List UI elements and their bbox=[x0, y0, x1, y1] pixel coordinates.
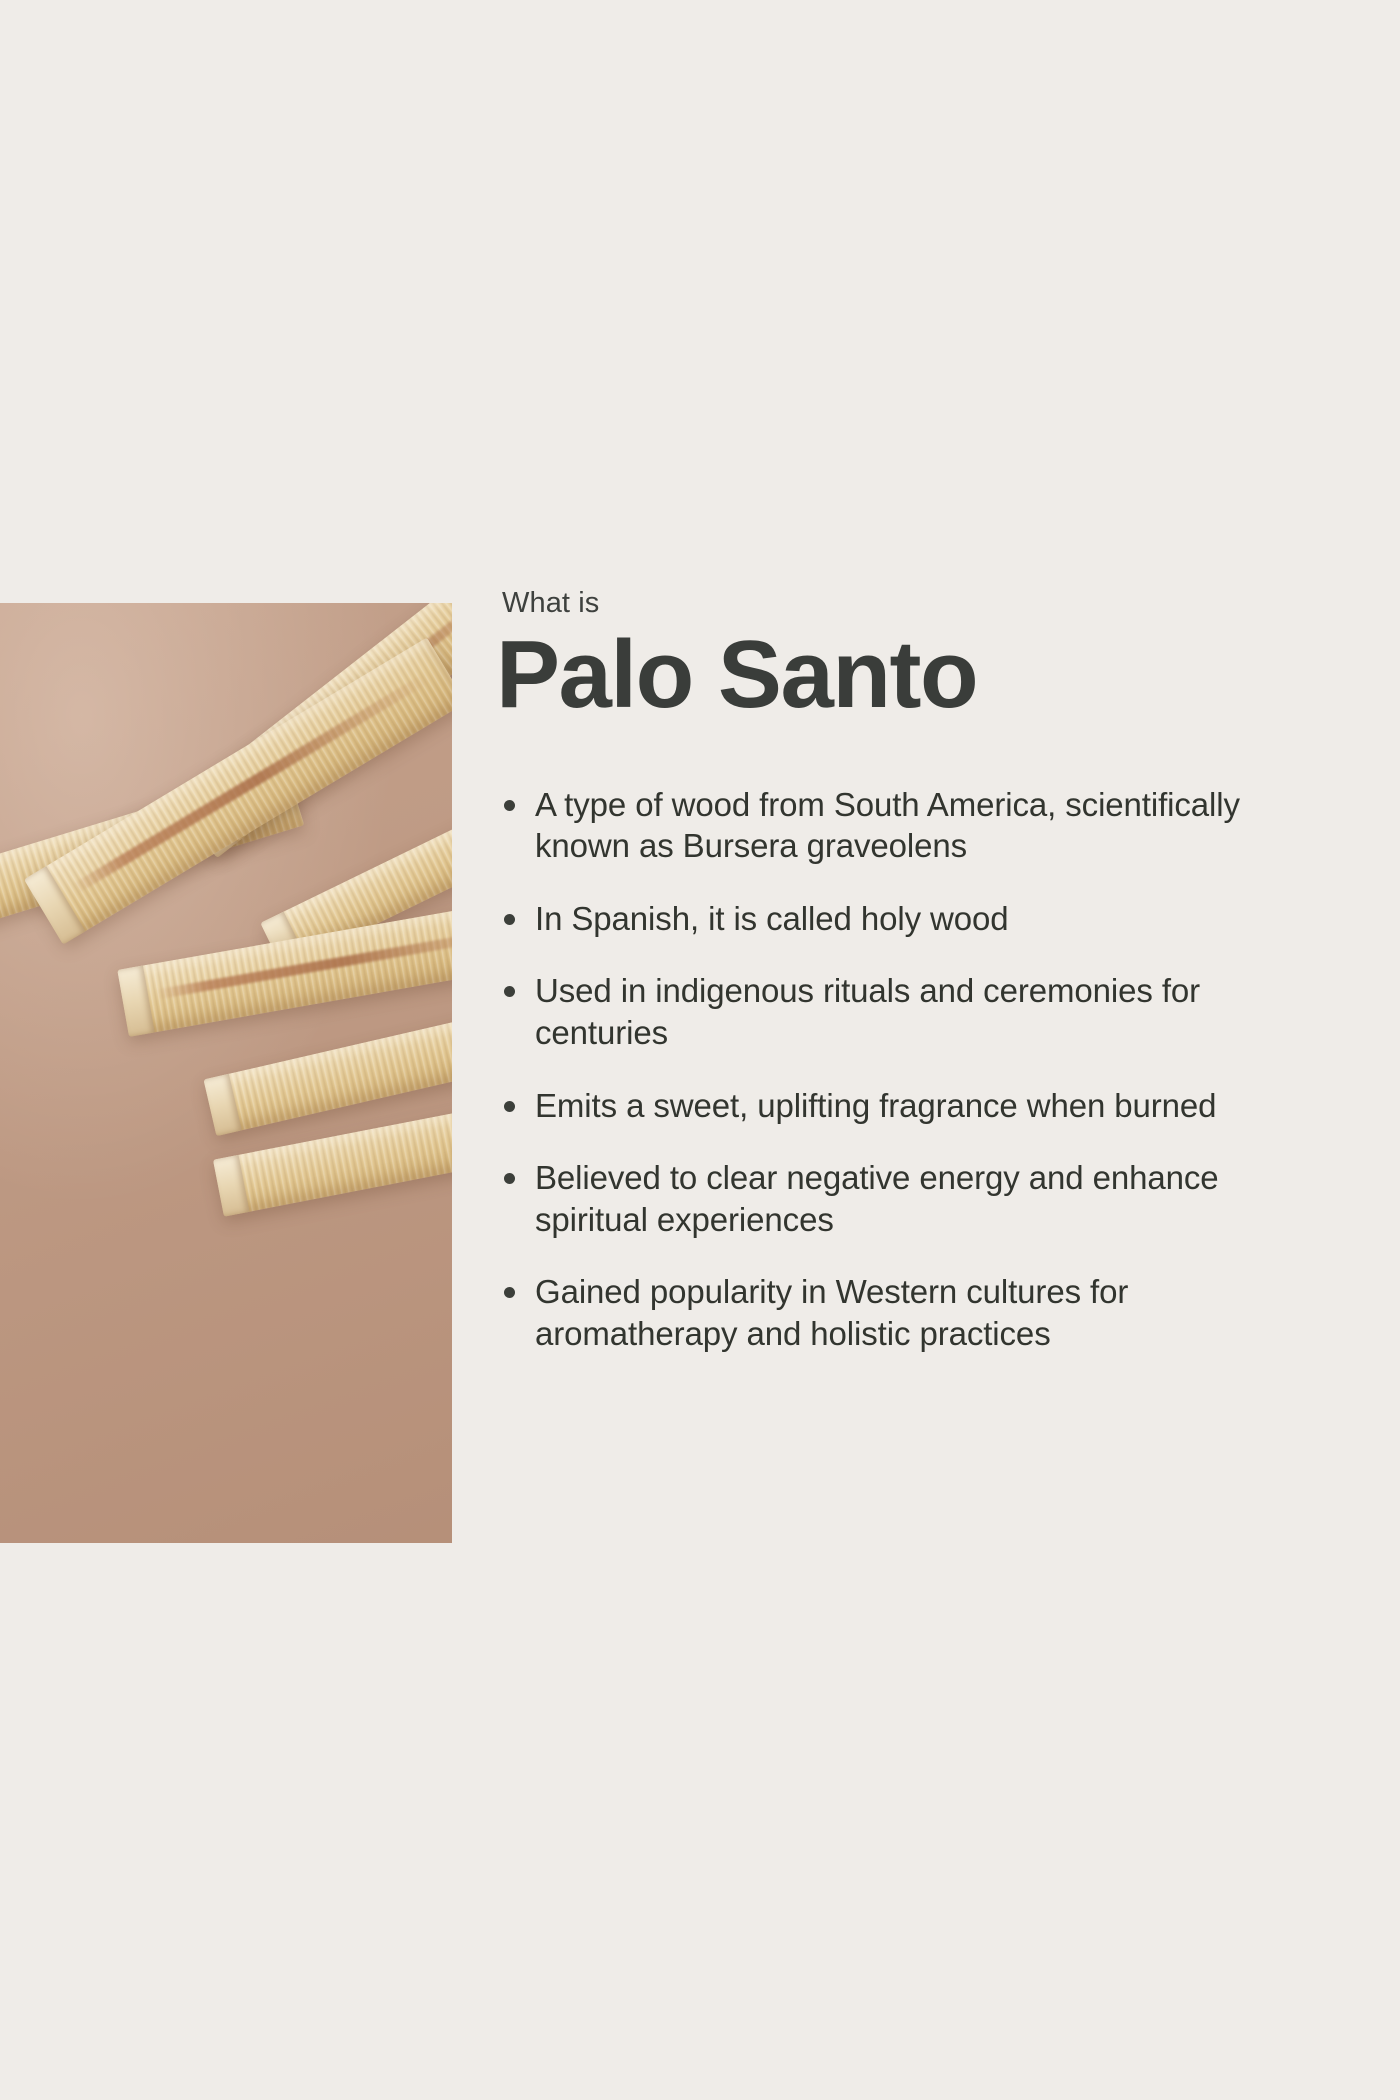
bullet-dot-icon bbox=[504, 914, 515, 925]
list-item: A type of wood from South America, scien… bbox=[500, 784, 1300, 867]
bullet-dot-icon bbox=[504, 1173, 515, 1184]
palo-santo-photo bbox=[0, 603, 452, 1543]
bullet-dot-icon bbox=[504, 1101, 515, 1112]
eyebrow-label: What is bbox=[502, 588, 1300, 620]
list-item-text: Gained popularity in Western cultures fo… bbox=[535, 1273, 1128, 1352]
wood-grain-streak bbox=[155, 925, 452, 999]
content-column: What is Palo Santo A type of wood from S… bbox=[500, 588, 1300, 1354]
list-item: Emits a sweet, uplifting fragrance when … bbox=[500, 1085, 1300, 1127]
list-item-text: A type of wood from South America, scien… bbox=[535, 786, 1240, 865]
wood-stick-endcap bbox=[213, 1155, 250, 1217]
list-item-text: Emits a sweet, uplifting fragrance when … bbox=[535, 1087, 1216, 1124]
page-title: Palo Santo bbox=[496, 624, 1300, 726]
wood-stick-endcap bbox=[203, 1074, 241, 1136]
bullet-dot-icon bbox=[504, 986, 515, 997]
list-item-text: Believed to clear negative energy and en… bbox=[535, 1159, 1219, 1238]
fact-list: A type of wood from South America, scien… bbox=[500, 784, 1300, 1355]
list-item: Believed to clear negative energy and en… bbox=[500, 1157, 1300, 1240]
wood-stick-endcap bbox=[117, 965, 154, 1036]
list-item-text: Used in indigenous rituals and ceremonie… bbox=[535, 972, 1200, 1051]
list-item: Gained popularity in Western cultures fo… bbox=[500, 1271, 1300, 1354]
list-item-text: In Spanish, it is called holy wood bbox=[535, 900, 1009, 937]
bullet-dot-icon bbox=[504, 1287, 515, 1298]
wood-grain-streak bbox=[71, 672, 431, 895]
list-item: Used in indigenous rituals and ceremonie… bbox=[500, 970, 1300, 1053]
list-item: In Spanish, it is called holy wood bbox=[500, 898, 1300, 940]
bullet-dot-icon bbox=[504, 800, 515, 811]
